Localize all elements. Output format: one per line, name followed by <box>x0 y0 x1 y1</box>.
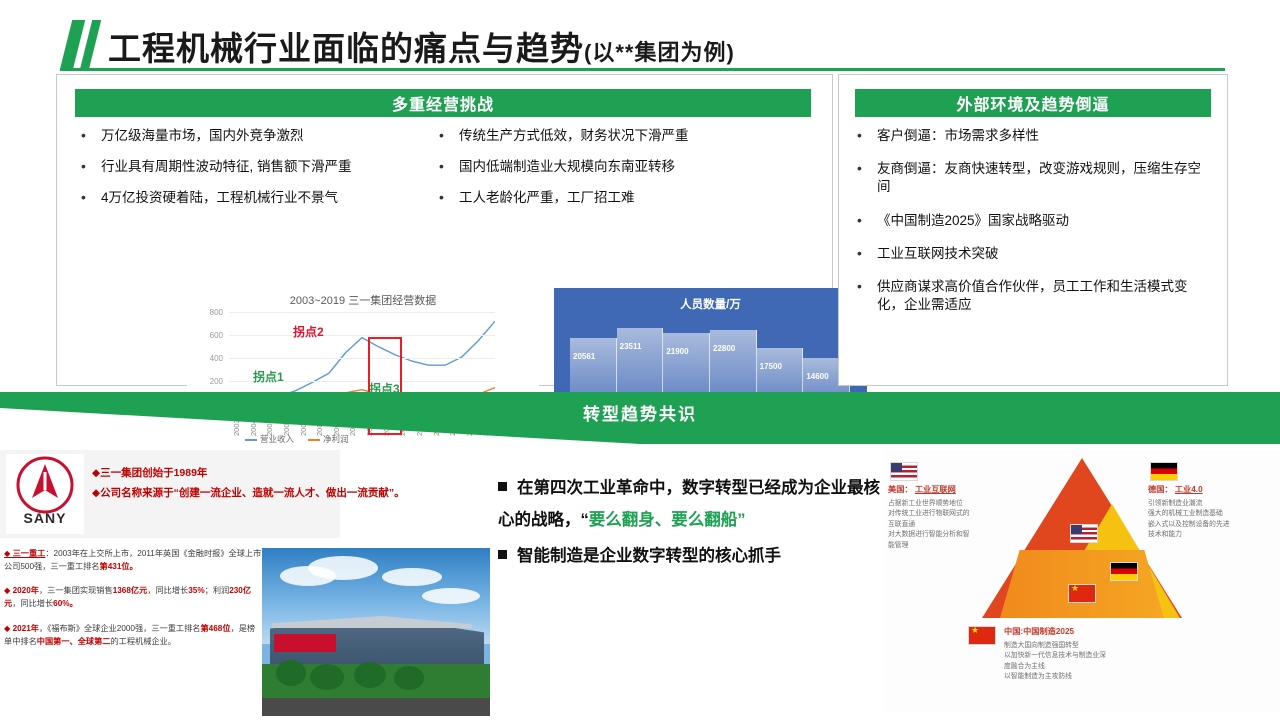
bar-chart-value-label: 23511 <box>620 342 642 351</box>
us-flag-icon-label <box>890 462 918 481</box>
line-chart-ytick: 600 <box>195 331 223 340</box>
photo-cloud <box>382 568 442 586</box>
list-item: 4万亿投资硬着陆，工程机械行业不景气 <box>79 189 409 207</box>
bullet-list-right: 客户倒逼：市场需求多样性 友商倒逼：友商快速转型，改变游戏规则，压缩生存空间 《… <box>855 127 1211 330</box>
china-flag-icon <box>1068 584 1096 603</box>
list-item: 万亿级海量市场，国内外竞争激烈 <box>79 127 409 145</box>
photo-tree <box>310 664 344 690</box>
panel-header-right: 外部环境及趋势倒逼 <box>855 89 1211 117</box>
line-chart-annotation-1: 拐点1 <box>253 368 284 385</box>
photo-tree <box>394 666 424 690</box>
section-band-transformation: 转型趋势共识 <box>0 392 1280 444</box>
page-title-sub: (以**集团为例) <box>584 40 735 65</box>
panel-external-environment: 外部环境及趋势倒逼 客户倒逼：市场需求多样性 友商倒逼：友商快速转型，改变游戏规… <box>838 74 1228 386</box>
list-item: 传统生产方式低效，财务状况下滑严重 <box>437 127 767 145</box>
strategy-line: 嵌入式以及控制设备的先进 <box>1148 520 1244 531</box>
sany-logo-wordmark: SANY <box>6 510 84 526</box>
photo-road <box>262 698 490 716</box>
slide-title-bar: 工程机械行业面临的痛点与趋势(以**集团为例) <box>0 8 1280 70</box>
germany-flag-icon-label <box>1150 462 1178 481</box>
china-flag-icon-label <box>968 626 996 645</box>
fact-item-1: ◆ 三一重工：2003年在上交所上市，2011年英国《金融时报》全球上市公司50… <box>4 548 262 573</box>
diagram-global-strategies: 美国： 工业互联网 占据新工业世界顺势地位 对传统工业进行物联网式的 互联直通 … <box>884 450 1280 712</box>
bullet-list-left-col2: 传统生产方式低效，财务状况下滑严重 国内低端制造业大规模向东南亚转移 工人老龄化… <box>437 127 767 221</box>
panel-business-challenges: 多重经营挑战 万亿级海量市场，国内外竞争激烈 行业具有周期性波动特征, 销售额下… <box>56 74 833 386</box>
bullet-square-icon <box>498 482 507 491</box>
bar-chart-value-label: 21900 <box>666 347 688 356</box>
page-title-main: 工程机械行业面临的痛点与趋势 <box>108 30 584 67</box>
photo-cloud <box>308 556 378 580</box>
photo-tree <box>276 660 306 686</box>
statement-item-1: 在第四次工业革命中，数字转型已经成为企业最核心的战略，“要么翻身、要么翻船” <box>498 472 893 536</box>
bar-chart-title: 人员数量/万 <box>554 296 867 312</box>
strategy-line: 能管理 <box>888 541 980 552</box>
strategy-line: 以加快新一代信息技术与制造业深 <box>1004 651 1204 662</box>
bar-chart-value-label: 20561 <box>573 352 595 361</box>
bar-chart-value-label: 17500 <box>760 362 782 371</box>
strategy-title-de: 德国： 工业4.0 <box>1148 484 1244 497</box>
photo-red-banner <box>274 634 336 652</box>
factory-photo <box>262 548 490 716</box>
strategy-line: 互联直通 <box>888 520 980 531</box>
sany-logo-mark <box>6 454 84 516</box>
strategy-line: 度融合为主线 <box>1004 662 1204 673</box>
sany-intro-lines: ◆三一集团创始于1989年 ◆公司名称来源于“创建一流企业、造就一流人才、做出一… <box>92 464 342 504</box>
page-title: 工程机械行业面临的痛点与趋势(以**集团为例) <box>108 22 735 70</box>
photo-cloud <box>422 588 480 604</box>
germany-flag-icon <box>1110 562 1138 581</box>
strategy-block-de: 德国： 工业4.0 引领新制造业潮流 强大的机械工业制造基础 嵌入式以及控制设备… <box>1148 484 1244 541</box>
list-item: 友商倒逼：友商快速转型，改变游戏规则，压缩生存空间 <box>855 160 1211 196</box>
slide-root: 工程机械行业面临的痛点与趋势(以**集团为例) 多重经营挑战 万亿级海量市场，国… <box>0 0 1280 720</box>
list-item: 供应商谋求高价值合作伙伴，员工工作和生活模式变化，企业需适应 <box>855 278 1211 314</box>
strategy-line: 对传统工业进行物联网式的 <box>888 509 980 520</box>
panel-header-left: 多重经营挑战 <box>75 89 811 117</box>
strategy-line: 强大的机械工业制造基础 <box>1148 509 1244 520</box>
line-chart-ytick: 200 <box>195 377 223 386</box>
bar-chart-value-label: 14600 <box>806 372 828 381</box>
band-title: 转型趋势共识 <box>0 400 1280 425</box>
strategy-line: 制造大国向制造强国转型 <box>1004 641 1204 652</box>
strategy-line: 引领新制造业潮流 <box>1148 499 1244 510</box>
card-sany-intro: SANY ◆三一集团创始于1989年 ◆公司名称来源于“创建一流企业、造就一流人… <box>0 450 340 538</box>
strategy-line: 技术和能力 <box>1148 530 1244 541</box>
strategy-line: 以智能制造为主攻防线 <box>1004 672 1204 683</box>
list-item: 国内低端制造业大规模向东南亚转移 <box>437 158 767 176</box>
bar-chart-value-label: 22800 <box>713 344 735 353</box>
sany-intro-line-1: ◆三一集团创始于1989年 <box>92 464 342 484</box>
list-item: 《中国制造2025》国家战略驱动 <box>855 212 1211 230</box>
list-item: 工人老龄化严重，工厂招工难 <box>437 189 767 207</box>
strategy-block-us: 美国： 工业互联网 占据新工业世界顺势地位 对传统工业进行物联网式的 互联直通 … <box>888 484 980 551</box>
strategy-block-cn: 中国:中国制造2025 制造大国向制造强国转型 以加快新一代信息技术与制造业深 … <box>1004 626 1204 683</box>
sany-intro-line-2: ◆公司名称来源于“创建一流企业、造就一流人才、做出一流贡献”。 <box>92 484 342 504</box>
list-item: 工业互联网技术突破 <box>855 245 1211 263</box>
fact-item-3: ◆ 2021年，《福布斯》全球企业2000强，三一重工排名第468位，是榜单中排… <box>4 623 262 648</box>
line-chart-ytick: 400 <box>195 354 223 363</box>
bullet-square-icon-2 <box>498 550 507 559</box>
list-item: 客户倒逼：市场需求多样性 <box>855 127 1211 145</box>
strategy-title-cn: 中国:中国制造2025 <box>1004 626 1204 639</box>
strategy-line: 占据新工业世界顺势地位 <box>888 499 980 510</box>
us-flag-icon <box>1070 524 1098 543</box>
line-chart-ytick: 800 <box>195 308 223 317</box>
strategy-line: 对大数据进行智能分析和智 <box>888 530 980 541</box>
fact-item-2: ◆ 2020年，三一集团实现销售1368亿元，同比增长35%；利润230亿元，同… <box>4 585 262 610</box>
sany-facts-list: ◆ 三一重工：2003年在上交所上市，2011年英国《金融时报》全球上市公司50… <box>4 548 262 660</box>
line-chart-plot: 800 600 400 200 0 <box>229 312 495 404</box>
line-chart-title: 2003~2019 三一集团经营数据 <box>187 292 539 308</box>
transformation-statements: 在第四次工业革命中，数字转型已经成为企业最核心的战略，“要么翻身、要么翻船” 智… <box>498 472 893 577</box>
statement-item-2: 智能制造是企业数字转型的核心抓手 <box>498 540 893 572</box>
bullet-list-left-col1: 万亿级海量市场，国内外竞争激烈 行业具有周期性波动特征, 销售额下滑严重 4万亿… <box>79 127 409 221</box>
list-item: 行业具有周期性波动特征, 销售额下滑严重 <box>79 158 409 176</box>
photo-tree <box>354 662 386 688</box>
line-chart-annotation-2: 拐点2 <box>293 323 324 340</box>
strategy-title-us: 美国： 工业互联网 <box>888 484 980 497</box>
title-underline <box>60 68 1225 71</box>
